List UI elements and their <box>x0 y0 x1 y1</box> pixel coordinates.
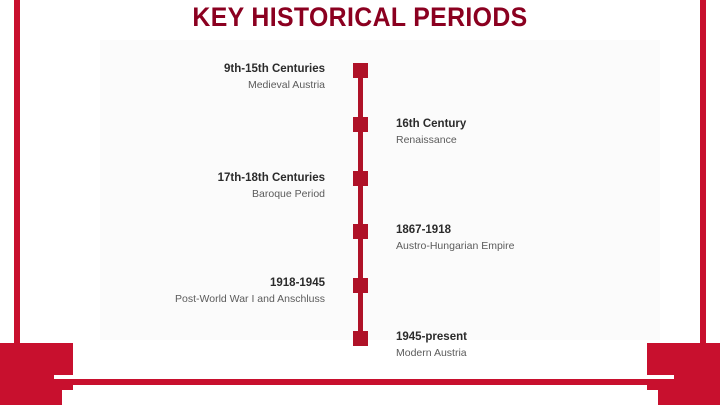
timeline-entry-description: Medieval Austria <box>224 77 325 93</box>
timeline-entry[interactable]: 9th-15th CenturiesMedieval Austria <box>224 62 325 93</box>
slide-canvas: KEY HISTORICAL PERIODS 9th-15th Centurie… <box>0 0 720 405</box>
timeline-marker[interactable] <box>353 63 368 78</box>
timeline-entry[interactable]: 1867-1918Austro-Hungarian Empire <box>396 223 514 254</box>
timeline-entry-period: 17th-18th Centuries <box>218 171 325 186</box>
timeline-entry[interactable]: 17th-18th CenturiesBaroque Period <box>218 171 325 202</box>
timeline-entry-period: 16th Century <box>396 117 466 132</box>
timeline-entry-description: Renaissance <box>396 132 466 148</box>
timeline-entry-description: Modern Austria <box>396 345 467 361</box>
timeline-entry-description: Austro-Hungarian Empire <box>396 238 514 254</box>
bottom-accent-rail <box>54 379 674 385</box>
timeline-marker[interactable] <box>353 117 368 132</box>
timeline-marker[interactable] <box>353 331 368 346</box>
timeline-entry[interactable]: 1945-presentModern Austria <box>396 330 467 361</box>
timeline-entry-description: Post-World War I and Anschluss <box>175 291 325 307</box>
timeline-entry[interactable]: 16th CenturyRenaissance <box>396 117 466 148</box>
timeline-entry-period: 1918-1945 <box>175 276 325 291</box>
timeline-marker[interactable] <box>353 224 368 239</box>
timeline-entry-description: Baroque Period <box>218 186 325 202</box>
page-title: KEY HISTORICAL PERIODS <box>29 2 691 33</box>
timeline-entry-period: 1867-1918 <box>396 223 514 238</box>
timeline-axis-line <box>358 66 363 341</box>
timeline-entry-period: 9th-15th Centuries <box>224 62 325 77</box>
timeline-entry-period: 1945-present <box>396 330 467 345</box>
timeline-marker[interactable] <box>353 171 368 186</box>
timeline-marker[interactable] <box>353 278 368 293</box>
timeline-entry[interactable]: 1918-1945Post-World War I and Anschluss <box>175 276 325 307</box>
